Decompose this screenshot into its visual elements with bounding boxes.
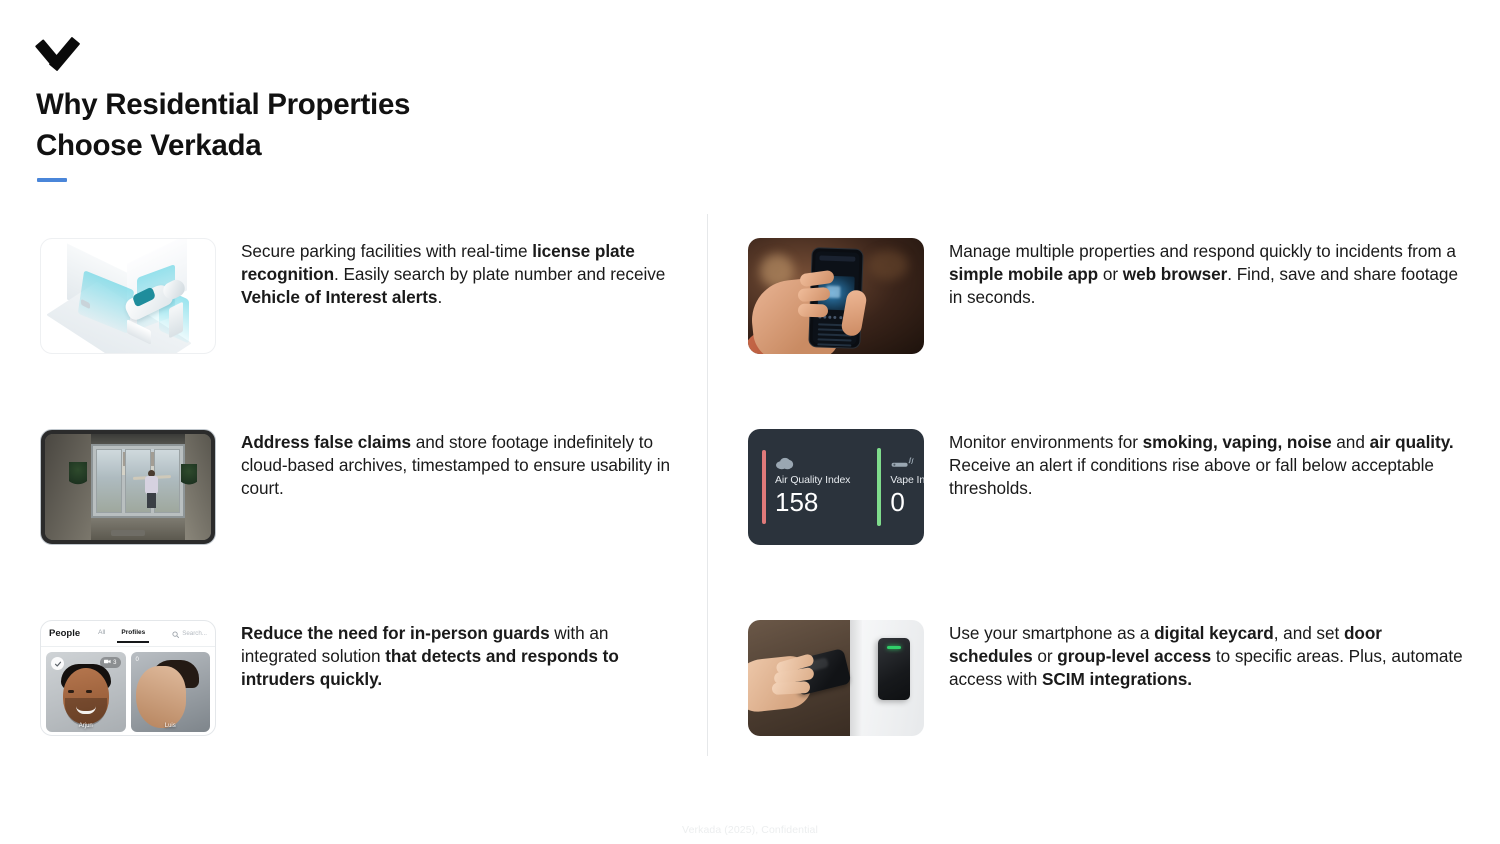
feature-paragraph: Address false claims and store footage i… (241, 431, 681, 499)
page-title: Why Residential Properties Choose Verkad… (36, 84, 410, 166)
people-search-input[interactable]: Search... (172, 625, 207, 643)
tab-all[interactable]: All (98, 629, 105, 639)
footer-confidential-notice: Verkada (2025), Confidential (0, 824, 1500, 836)
verkada-logo-icon (37, 38, 85, 70)
isometric-parking-garage-lpr-illustration (40, 238, 216, 354)
feature-item: Air Quality Index 158 (748, 429, 1466, 620)
vape-pen-icon (890, 457, 924, 470)
air-quality-status-bar (762, 450, 766, 524)
vape-index-label: Vape Index (890, 474, 924, 486)
door-glass-panel (96, 449, 122, 513)
people-card-grid: 3 Arjun 0 Luis (41, 647, 215, 736)
door-trim (850, 620, 862, 736)
vape-index-status-bar (877, 448, 881, 526)
glass-door-frame (91, 444, 185, 518)
phone-tapping-badge-reader (748, 620, 924, 736)
feature-item: Secure parking facilities with real-time… (40, 238, 680, 429)
camera-count-badge: 3 (100, 657, 120, 668)
camera-count-badge: 0 (136, 657, 139, 663)
search-placeholder-text: Search... (182, 630, 207, 637)
feature-text: Secure parking facilities with real-time… (241, 240, 681, 308)
cloud-icon (775, 457, 850, 470)
reader-status-led (887, 646, 901, 649)
people-panel-title: People (49, 628, 80, 639)
people-tabs: All Profiles (98, 629, 145, 639)
feature-item: People All Profiles Search... (40, 620, 680, 811)
finger (772, 681, 811, 695)
selected-check-icon[interactable] (51, 657, 64, 670)
feature-paragraph: Manage multiple properties and respond q… (949, 240, 1467, 308)
badge-reader-device (878, 638, 910, 700)
background-bokeh (868, 250, 908, 280)
hand-holding-smartphone-verkada-app (748, 238, 924, 354)
indoor-plant (181, 464, 197, 488)
people-profiles-face-search-ui: People All Profiles Search... (40, 620, 216, 736)
vape-index-value: 0 (890, 487, 924, 517)
camera-icon (104, 658, 111, 667)
air-quality-label: Air Quality Index (775, 474, 850, 486)
person-name-label: Arjun (46, 723, 126, 729)
building-entrance-camera-footage (40, 429, 216, 545)
person-torso (145, 476, 158, 494)
person-legs (147, 493, 156, 508)
feature-text: Reduce the need for in-person guards wit… (241, 622, 681, 690)
finger (798, 287, 831, 302)
people-panel-header: People All Profiles Search... (41, 621, 215, 647)
air-quality-metric: Air Quality Index 158 (775, 457, 850, 517)
person-name-label: Luis (131, 723, 211, 729)
left-feature-column: Secure parking facilities with real-time… (40, 238, 680, 811)
right-feature-column: Manage multiple properties and respond q… (748, 238, 1466, 811)
person-profile-card[interactable]: 3 Arjun (46, 652, 126, 732)
feature-paragraph: Secure parking facilities with real-time… (241, 240, 681, 308)
slide-root: Why Residential Properties Choose Verkad… (0, 0, 1500, 844)
column-divider (707, 214, 708, 756)
tab-profiles[interactable]: Profiles (121, 629, 145, 639)
feature-text: Monitor environments for smoking, vaping… (949, 431, 1467, 499)
app-top-bar (819, 255, 855, 261)
person-profile-card[interactable]: 0 Luis (131, 652, 211, 732)
finger (798, 303, 828, 317)
vape-index-metric: Vape Index 0 (890, 457, 924, 517)
person-eye (86, 690, 92, 693)
feature-item: Address false claims and store footage i… (40, 429, 680, 620)
indoor-plant (69, 462, 87, 488)
entry-mat (111, 530, 145, 536)
air-quality-value: 158 (775, 487, 850, 517)
feature-paragraph: Monitor environments for smoking, vaping… (949, 431, 1467, 499)
air-quality-sensor-dashboard-card: Air Quality Index 158 (748, 429, 924, 545)
accent-underline (37, 178, 67, 182)
feature-text: Use your smartphone as a digital keycard… (949, 622, 1467, 690)
feature-text: Address false claims and store footage i… (241, 431, 681, 499)
feature-text: Manage multiple properties and respond q… (949, 240, 1467, 308)
search-icon (172, 625, 179, 643)
person-face (136, 666, 186, 728)
feature-item: Use your smartphone as a digital keycard… (748, 620, 1466, 811)
feature-item: Manage multiple properties and respond q… (748, 238, 1466, 429)
feature-paragraph: Reduce the need for in-person guards wit… (241, 622, 681, 690)
camera-count-value: 0 (136, 657, 139, 663)
feature-paragraph: Use your smartphone as a digital keycard… (949, 622, 1467, 690)
person-eye (68, 690, 74, 693)
camera-count-value: 3 (113, 660, 116, 666)
